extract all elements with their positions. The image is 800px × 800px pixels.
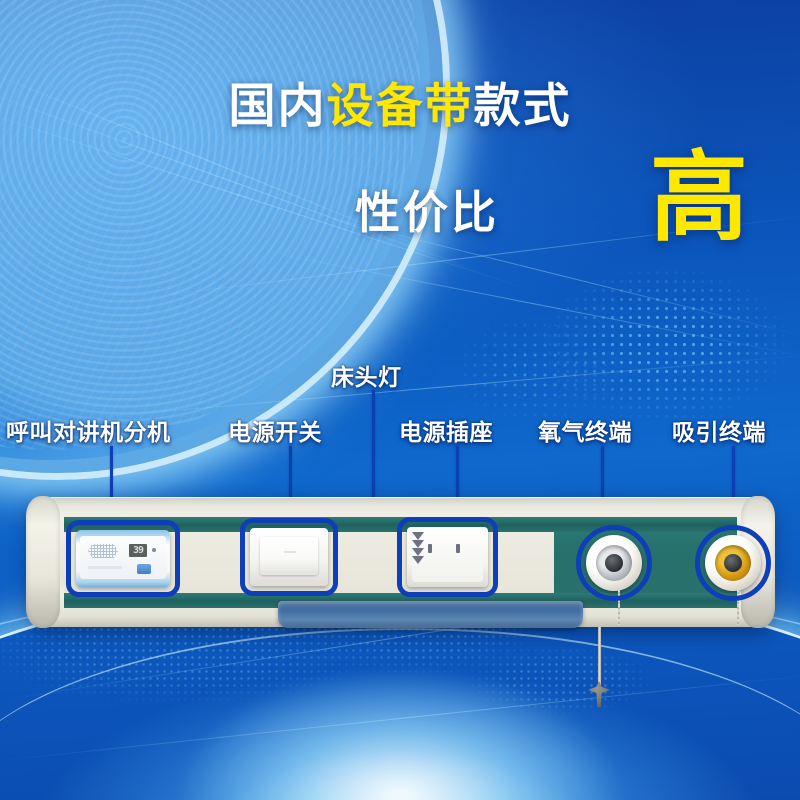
highlight-box-power-socket [397,517,498,597]
callout-label-power-socket: 电源插座 [399,413,493,447]
callout-label-power-switch: 电源开关 [228,413,322,447]
promo-banner: 国内设备带款式 性价比 高 呼叫对讲机分机 电源开关 床头灯 电源插座 氧气终端… [0,0,800,800]
panel-end-cap-left [26,496,60,628]
headline-subline: 性价比 [355,176,499,241]
callout-label-bed-lamp: 床头灯 [331,358,402,392]
headline-line-1: 国内设备带款式 [0,82,800,129]
headline-part-2: 款式 [474,79,572,132]
callout-label-suction-terminal: 吸引终端 [672,413,766,447]
highlight-ring-oxygen-terminal [576,525,652,601]
callout-label-nurse-call-intercom: 呼叫对讲机分机 [6,413,171,447]
highlight-box-nurse-call-intercom [66,520,180,597]
medical-headboard-panel: 39 [28,497,773,627]
callout-label-oxygen-terminal: 氧气终端 [538,413,632,447]
highlight-box-power-switch [240,518,338,596]
pull-cord-icon[interactable] [598,627,601,689]
headline-line-2-row: 性价比 高 [0,170,800,260]
headline-highlight: 设备带 [327,79,474,132]
headline-big-word: 高 [650,148,748,246]
headline-part-1: 国内 [229,79,327,132]
highlight-ring-suction-terminal [695,525,771,601]
bed-lamp-diffuser-icon[interactable] [278,601,583,628]
